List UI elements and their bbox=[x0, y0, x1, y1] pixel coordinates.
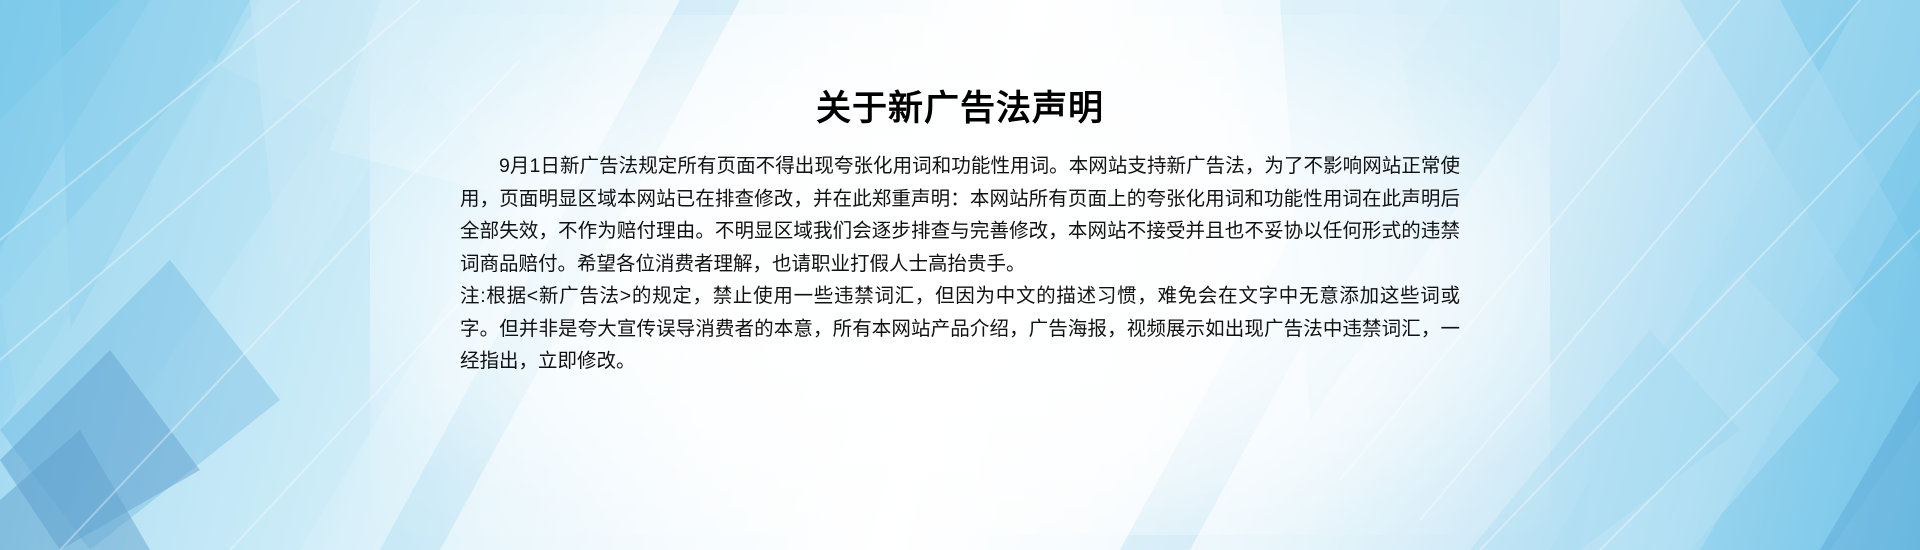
advertising-law-statement-banner: 关于新广告法声明 9月1日新广告法规定所有页面不得出现夸张化用词和功能性用词。本… bbox=[0, 0, 1920, 550]
statement-paragraph-1: 9月1日新广告法规定所有页面不得出现夸张化用词和功能性用词。本网站支持新广告法，… bbox=[460, 150, 1460, 280]
statement-paragraph-2: 注:根据<新广告法>的规定，禁止使用一些违禁词汇，但因为中文的描述习惯，难免会在… bbox=[460, 280, 1460, 378]
statement-content: 关于新广告法声明 9月1日新广告法规定所有页面不得出现夸张化用词和功能性用词。本… bbox=[460, 0, 1460, 550]
page-title: 关于新广告法声明 bbox=[460, 86, 1460, 132]
